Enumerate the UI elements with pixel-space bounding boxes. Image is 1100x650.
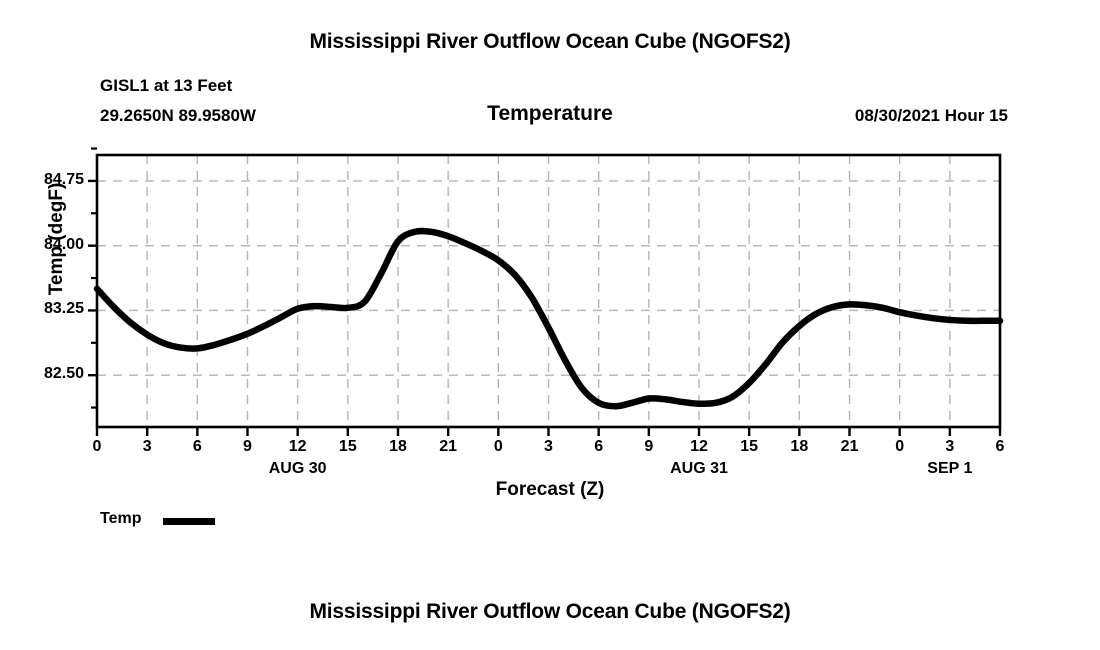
- x-day-label: AUG 31: [639, 460, 759, 478]
- x-tick-label: 0: [478, 438, 518, 456]
- x-tick-label: 21: [428, 438, 468, 456]
- y-tick-label: 84.75: [14, 171, 84, 189]
- x-tick-label: 15: [729, 438, 769, 456]
- x-tick-label: 6: [980, 438, 1020, 456]
- x-tick-label: 18: [779, 438, 819, 456]
- legend-label: Temp: [100, 510, 141, 528]
- x-tick-label: 18: [378, 438, 418, 456]
- legend-line-swatch: [163, 518, 215, 525]
- x-tick-label: 6: [177, 438, 217, 456]
- x-tick-label: 0: [880, 438, 920, 456]
- x-tick-label: 12: [278, 438, 318, 456]
- x-tick-label: 3: [127, 438, 167, 456]
- y-tick-label: 84.00: [14, 236, 84, 254]
- y-tick-label: 82.50: [14, 365, 84, 383]
- x-tick-label: 6: [579, 438, 619, 456]
- x-tick-label: 21: [830, 438, 870, 456]
- footer-title: Mississippi River Outflow Ocean Cube (NG…: [0, 600, 1100, 624]
- x-tick-label: 9: [629, 438, 669, 456]
- x-tick-label: 3: [930, 438, 970, 456]
- x-tick-label: 3: [529, 438, 569, 456]
- x-tick-label: 12: [679, 438, 719, 456]
- y-tick-label: 83.25: [14, 300, 84, 318]
- x-axis-title: Forecast (Z): [0, 479, 1100, 501]
- x-day-label: SEP 1: [890, 460, 1010, 478]
- x-tick-label: 9: [228, 438, 268, 456]
- x-day-label: AUG 30: [238, 460, 358, 478]
- x-tick-label: 0: [77, 438, 117, 456]
- chart-plot-area: [0, 0, 1100, 650]
- temperature-line-chart: [0, 0, 1100, 650]
- x-tick-label: 15: [328, 438, 368, 456]
